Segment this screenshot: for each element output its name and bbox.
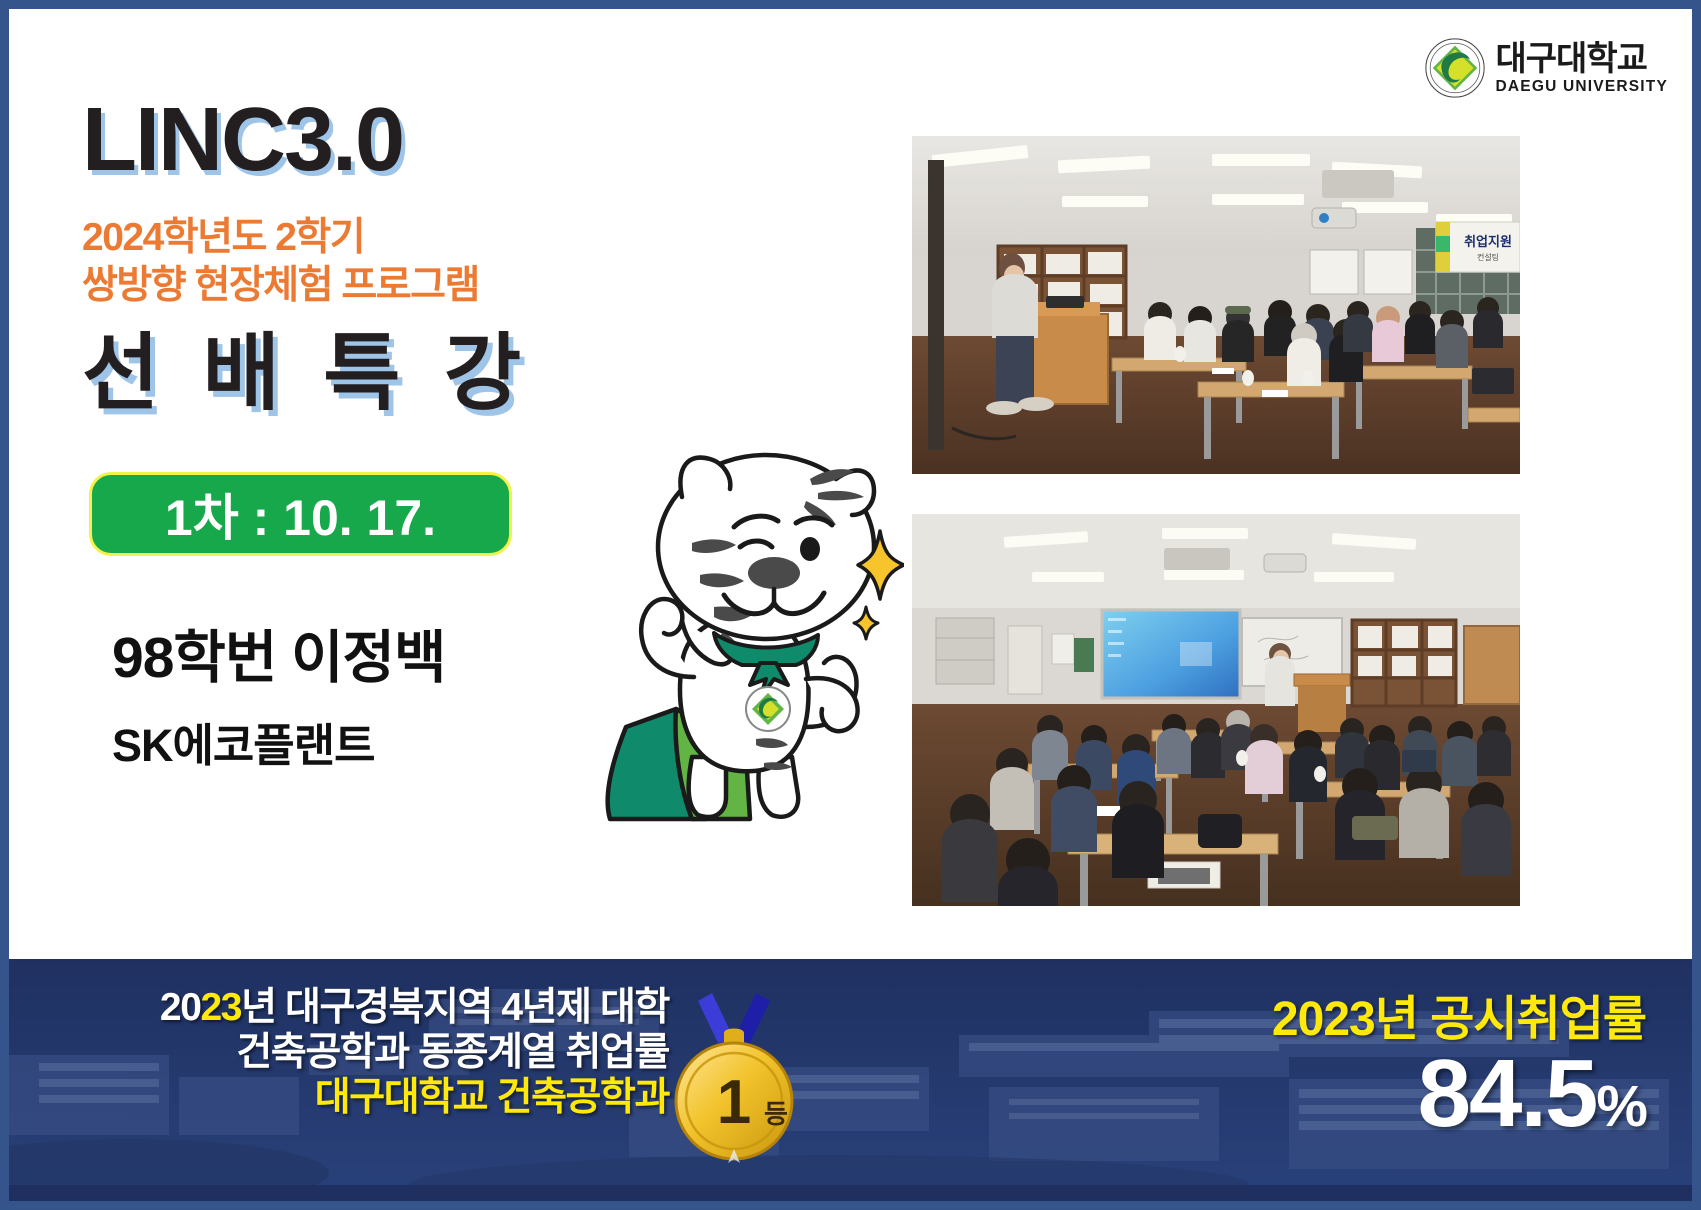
subtitle-line-2: 쌍방향 현장체험 프로그램 xyxy=(82,262,479,310)
rank-year-highlight: 23 xyxy=(201,986,242,1029)
svg-text:취업지원: 취업지원 xyxy=(1464,234,1512,249)
rate-number: 84.5 xyxy=(1418,1040,1597,1147)
daegu-university-emblem-icon xyxy=(1424,37,1486,99)
rank-year-prefix: 20 xyxy=(160,986,201,1029)
tiger-mascot-illustration xyxy=(574,427,904,827)
rank-line-1: 2023년 대구경북지역 4년제 대학 xyxy=(69,985,669,1030)
rank-line-1-suffix: 년 대구경북지역 4년제 대학 xyxy=(241,986,669,1029)
employment-rank-text: 2023년 대구경북지역 4년제 대학 건축공학과 동종계열 취업률 대구대학교… xyxy=(69,985,669,1121)
lecture-photo-front-view: 취업지원 컨설팅 xyxy=(912,136,1520,474)
session-date-label: 1차 : 10. 17. xyxy=(165,478,436,550)
rank-line-3: 대구대학교 건축공학과 xyxy=(69,1075,669,1120)
employment-rate-block: 2023년 공시취업률 84.5% xyxy=(1272,979,1646,1143)
speaker-name: 98학번 이정백 xyxy=(112,612,445,694)
svg-text:등: 등 xyxy=(764,1099,788,1129)
university-logo: 대구대학교 DAEGU UNIVERSITY xyxy=(1424,37,1669,99)
logo-korean-name: 대구대학교 xyxy=(1496,42,1647,76)
rate-unit: % xyxy=(1596,1074,1646,1139)
speaker-company: SK에코플랜트 xyxy=(112,709,375,774)
program-subtitle: 2024학년도 2학기 쌍방향 현장체험 프로그램 xyxy=(82,214,479,309)
employment-rate-label: 2023년 공시취업률 xyxy=(1272,979,1646,1049)
program-brand-title: LINC3.0 xyxy=(82,95,403,185)
statistics-banner: 2023년 대구경북지역 4년제 대학 건축공학과 동종계열 취업률 대구대학교… xyxy=(9,959,1692,1201)
employment-rate-value: 84.5% xyxy=(1272,1045,1646,1143)
logo-wordmark: 대구대학교 DAEGU UNIVERSITY xyxy=(1496,42,1669,95)
svg-text:컨설팅: 컨설팅 xyxy=(1477,252,1499,262)
subtitle-line-1: 2024학년도 2학기 xyxy=(82,214,479,262)
session-date-badge: 1차 : 10. 17. xyxy=(89,472,512,556)
poster-root: 대구대학교 DAEGU UNIVERSITY LINC3.0 2024학년도 2… xyxy=(0,0,1701,1210)
lecture-photo-rear-view xyxy=(912,514,1520,906)
page-title: 선 배 특 강 xyxy=(82,331,531,415)
gold-medal-first-place-icon: 1 등 xyxy=(654,987,814,1167)
rank-line-2: 건축공학과 동종계열 취업률 xyxy=(69,1030,669,1075)
svg-text:1: 1 xyxy=(717,1068,751,1137)
logo-english-name: DAEGU UNIVERSITY xyxy=(1496,79,1669,95)
